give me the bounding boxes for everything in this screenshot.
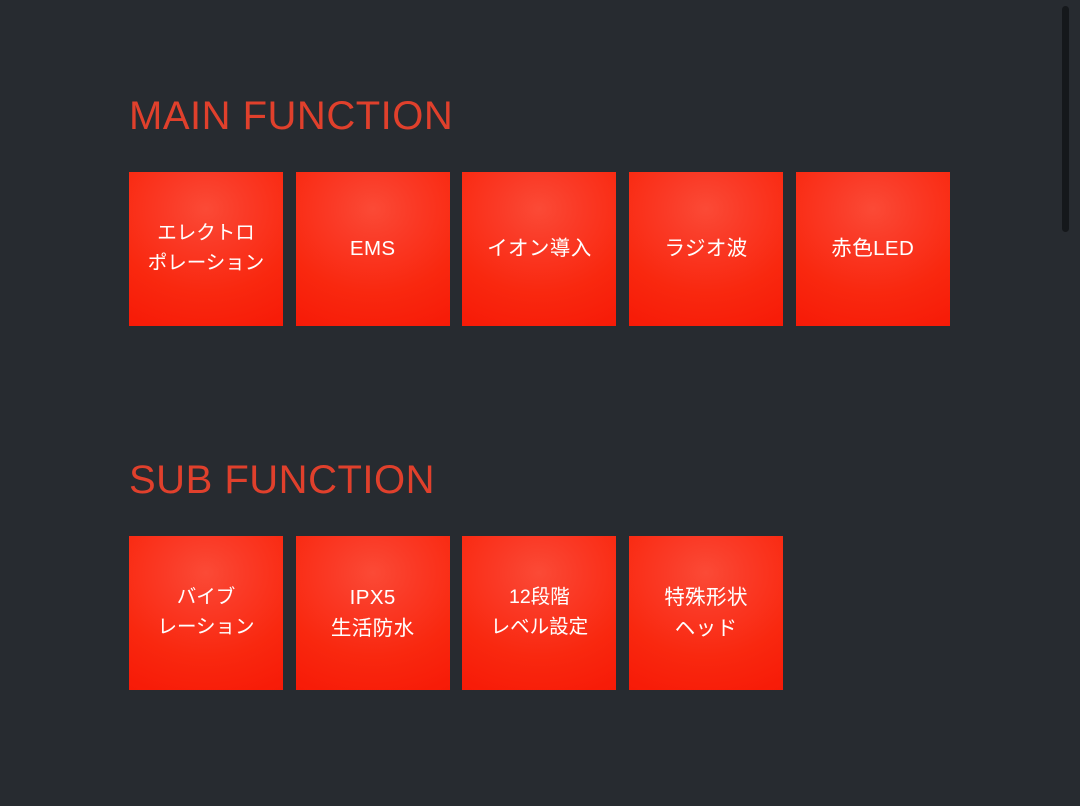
feature-card-label: エレクトロ ポレーション [148, 219, 265, 278]
feature-card-label: 特殊形状 ヘッド [664, 582, 748, 644]
feature-card-label: 赤色LED [831, 233, 914, 264]
feature-card-ipx5-waterproof[interactable]: IPX5 生活防水 [296, 536, 450, 690]
page-root: MAIN FUNCTION エレクトロ ポレーション EMS イオン導入 ラジオ… [0, 0, 1080, 806]
feature-card-label: バイブ レーション [157, 583, 254, 642]
main-function-card-row: エレクトロ ポレーション EMS イオン導入 ラジオ波 赤色LED [129, 172, 950, 326]
sub-function-heading: SUB FUNCTION [129, 460, 783, 500]
feature-card-label: 12段階 レベル設定 [491, 583, 589, 642]
feature-card-label: イオン導入 [487, 233, 592, 264]
feature-card-electroporation[interactable]: エレクトロ ポレーション [129, 172, 283, 326]
main-function-heading: MAIN FUNCTION [129, 96, 950, 136]
sub-function-section: SUB FUNCTION バイブ レーション IPX5 生活防水 12段階 レベ… [129, 460, 783, 690]
feature-card-radio-wave[interactable]: ラジオ波 [629, 172, 783, 326]
vertical-scrollbar-thumb[interactable] [1062, 6, 1069, 232]
feature-card-vibration[interactable]: バイブ レーション [129, 536, 283, 690]
feature-card-label: ラジオ波 [664, 233, 747, 264]
feature-card-12-level-setting[interactable]: 12段階 レベル設定 [462, 536, 616, 690]
feature-card-ion-introduction[interactable]: イオン導入 [462, 172, 616, 326]
main-function-section: MAIN FUNCTION エレクトロ ポレーション EMS イオン導入 ラジオ… [129, 96, 950, 326]
feature-card-red-led[interactable]: 赤色LED [796, 172, 950, 326]
feature-card-label: EMS [350, 233, 396, 264]
feature-card-special-shape-head[interactable]: 特殊形状 ヘッド [629, 536, 783, 690]
feature-card-ems[interactable]: EMS [296, 172, 450, 326]
sub-function-card-row: バイブ レーション IPX5 生活防水 12段階 レベル設定 特殊形状 ヘッド [129, 536, 783, 690]
feature-card-label: IPX5 生活防水 [331, 582, 415, 644]
